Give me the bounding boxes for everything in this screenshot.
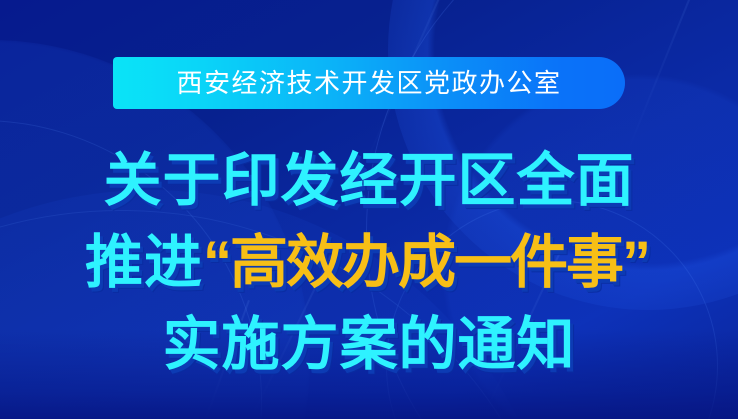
issuing-office-label: 西安经济技术开发区党政办公室	[176, 70, 561, 96]
title-line-1: 关于印发经开区全面	[0, 140, 738, 222]
issuing-office-badge: 西安经济技术开发区党政办公室	[113, 57, 625, 109]
title-line-2-segment-yellow: “高效办成一件事”	[203, 230, 649, 295]
notice-banner: 西安经济技术开发区党政办公室 关于印发经开区全面 推进“高效办成一件事” 实施方…	[0, 0, 738, 419]
page-title: 关于印发经开区全面 推进“高效办成一件事” 实施方案的通知	[0, 140, 738, 386]
title-line-2-segment-cyan: 推进	[85, 230, 203, 295]
title-line-3: 实施方案的通知	[0, 304, 738, 386]
decorative-streak-2	[625, 0, 702, 156]
title-line-2: 推进“高效办成一件事”	[0, 222, 738, 304]
